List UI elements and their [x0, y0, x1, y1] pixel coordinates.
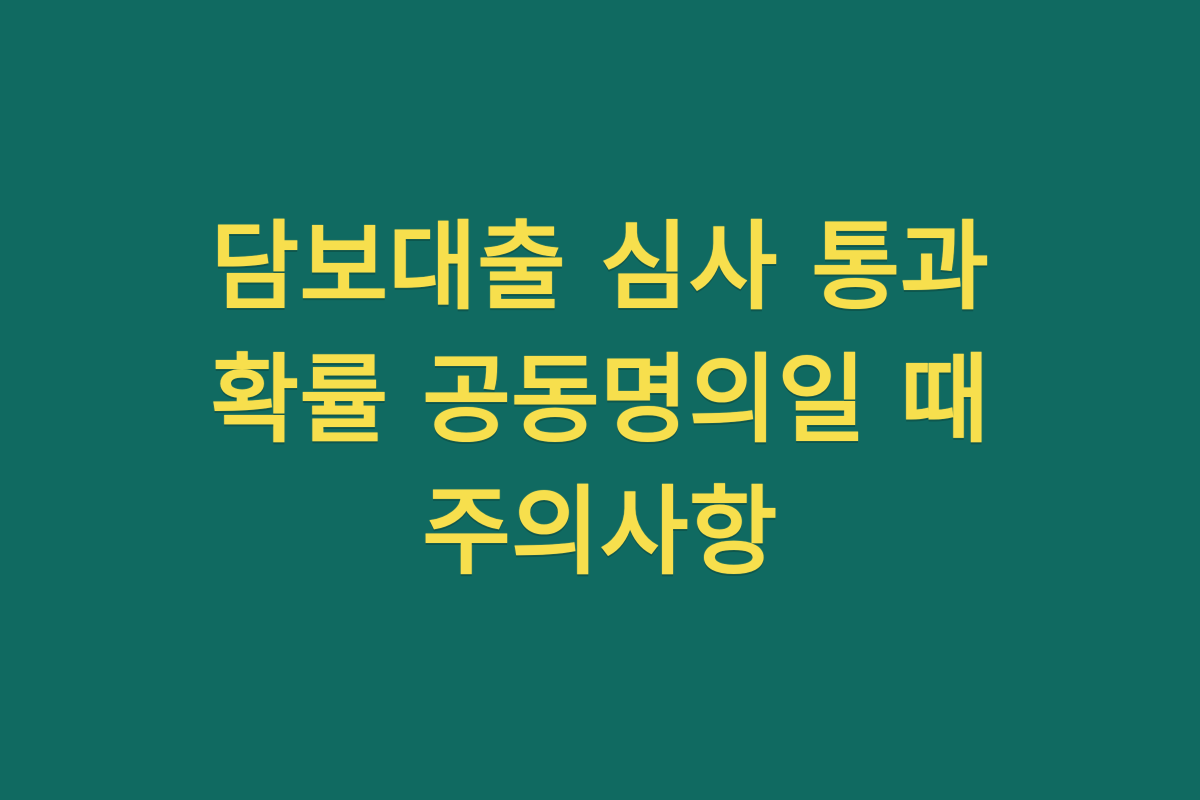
thumbnail-card: 담보대출 심사 통과 확률 공동명의일 때 주의사항: [0, 0, 1200, 800]
page-title: 담보대출 심사 통과 확률 공동명의일 때 주의사항: [120, 201, 1080, 598]
title-block: 담보대출 심사 통과 확률 공동명의일 때 주의사항: [100, 201, 1100, 598]
